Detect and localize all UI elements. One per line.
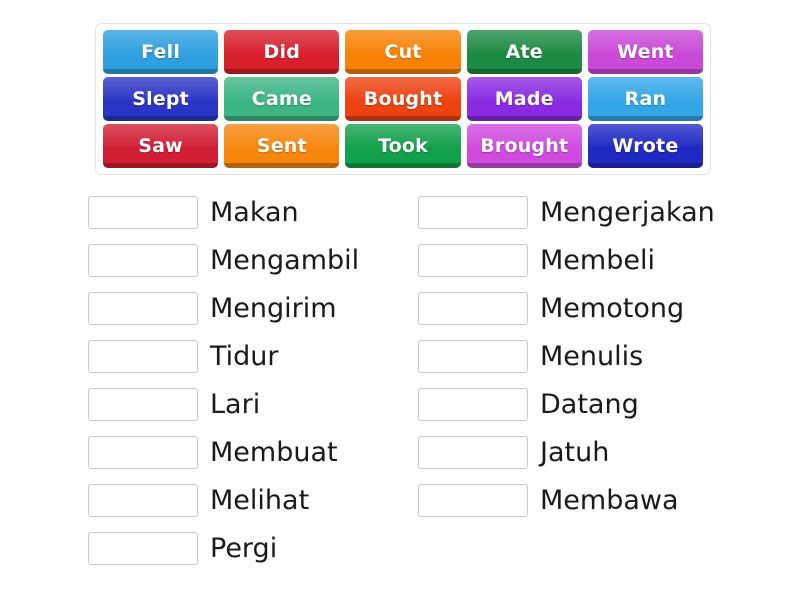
answer-row: Memotong — [418, 284, 748, 332]
word-tile-took[interactable]: Took — [345, 124, 460, 168]
answer-row: Makan — [88, 188, 418, 236]
answer-row: Lari — [88, 380, 418, 428]
answer-row: Mengerjakan — [418, 188, 748, 236]
answer-label: Jatuh — [540, 439, 609, 466]
word-tile-label: Sent — [257, 135, 307, 157]
word-tile-label: Ate — [506, 41, 543, 63]
word-tile-label: Fell — [141, 41, 180, 63]
word-tile-slept[interactable]: Slept — [103, 77, 218, 121]
word-tile-sent[interactable]: Sent — [224, 124, 339, 168]
answer-label: Datang — [540, 391, 639, 418]
drop-target-jatuh[interactable] — [418, 436, 528, 469]
answer-label: Melihat — [210, 487, 309, 514]
answer-row: Mengirim — [88, 284, 418, 332]
answer-label: Lari — [210, 391, 260, 418]
word-tile-fell[interactable]: Fell — [103, 30, 218, 74]
tile-row: Saw Sent Took Brought Wrote — [103, 124, 703, 170]
word-tile-label: Went — [617, 41, 674, 63]
word-tile-label: Slept — [132, 88, 189, 110]
word-tile-label: Cut — [384, 41, 421, 63]
drop-target-pergi[interactable] — [88, 532, 198, 565]
word-tile-ran[interactable]: Ran — [588, 77, 703, 121]
tile-row: Slept Came Bought Made Ran — [103, 77, 703, 123]
answer-row: Jatuh — [418, 428, 748, 476]
answer-label: Membeli — [540, 247, 655, 274]
drop-target-mengirim[interactable] — [88, 292, 198, 325]
word-tile-went[interactable]: Went — [588, 30, 703, 74]
word-tile-label: Bought — [364, 88, 442, 110]
drop-target-makan[interactable] — [88, 196, 198, 229]
word-tile-label: Made — [495, 88, 554, 110]
word-tile-label: Saw — [138, 135, 183, 157]
answer-column-right: Mengerjakan Membeli Memotong Menulis Dat… — [418, 188, 748, 572]
word-tile-label: Took — [378, 135, 428, 157]
answer-label: Mengerjakan — [540, 199, 715, 226]
answer-label: Mengirim — [210, 295, 337, 322]
drop-target-tidur[interactable] — [88, 340, 198, 373]
drop-target-membuat[interactable] — [88, 436, 198, 469]
word-tile-label: Brought — [480, 135, 568, 157]
answer-label: Memotong — [540, 295, 684, 322]
answer-list: Makan Mengambil Mengirim Tidur Lari Memb… — [88, 188, 748, 572]
answer-label: Tidur — [210, 343, 279, 370]
word-tile-bought[interactable]: Bought — [345, 77, 460, 121]
drop-target-mengambil[interactable] — [88, 244, 198, 277]
drop-target-membawa[interactable] — [418, 484, 528, 517]
answer-row: Menulis — [418, 332, 748, 380]
answer-row: Melihat — [88, 476, 418, 524]
answer-row: Tidur — [88, 332, 418, 380]
drop-target-datang[interactable] — [418, 388, 528, 421]
word-tile-did[interactable]: Did — [224, 30, 339, 74]
answer-label: Membawa — [540, 487, 679, 514]
drop-target-lari[interactable] — [88, 388, 198, 421]
answer-label: Menulis — [540, 343, 643, 370]
word-tile-cut[interactable]: Cut — [345, 30, 460, 74]
answer-column-left: Makan Mengambil Mengirim Tidur Lari Memb… — [88, 188, 418, 572]
answer-row: Pergi — [88, 524, 418, 572]
answer-label: Makan — [210, 199, 299, 226]
answer-label: Membuat — [210, 439, 338, 466]
drop-target-melihat[interactable] — [88, 484, 198, 517]
word-tile-label: Did — [264, 41, 301, 63]
answer-row: Datang — [418, 380, 748, 428]
answer-row: Membawa — [418, 476, 748, 524]
word-tile-saw[interactable]: Saw — [103, 124, 218, 168]
word-tile-brought[interactable]: Brought — [467, 124, 582, 168]
answer-row: Mengambil — [88, 236, 418, 284]
drop-target-mengerjakan[interactable] — [418, 196, 528, 229]
answer-row: Membeli — [418, 236, 748, 284]
answer-row: Membuat — [88, 428, 418, 476]
word-tile-came[interactable]: Came — [224, 77, 339, 121]
answer-label: Mengambil — [210, 247, 359, 274]
drop-target-memotong[interactable] — [418, 292, 528, 325]
drop-target-menulis[interactable] — [418, 340, 528, 373]
word-tile-wrote[interactable]: Wrote — [588, 124, 703, 168]
word-tile-label: Came — [252, 88, 312, 110]
match-up-activity: Fell Did Cut Ate Went Slept Came Bo — [0, 0, 800, 600]
word-tile-ate[interactable]: Ate — [467, 30, 582, 74]
answer-label: Pergi — [210, 535, 277, 562]
word-tile-label: Wrote — [612, 135, 678, 157]
tile-row: Fell Did Cut Ate Went — [103, 30, 703, 76]
word-tile-made[interactable]: Made — [467, 77, 582, 121]
drop-target-membeli[interactable] — [418, 244, 528, 277]
word-tile-bank: Fell Did Cut Ate Went Slept Came Bo — [95, 23, 711, 175]
word-tile-label: Ran — [625, 88, 667, 110]
